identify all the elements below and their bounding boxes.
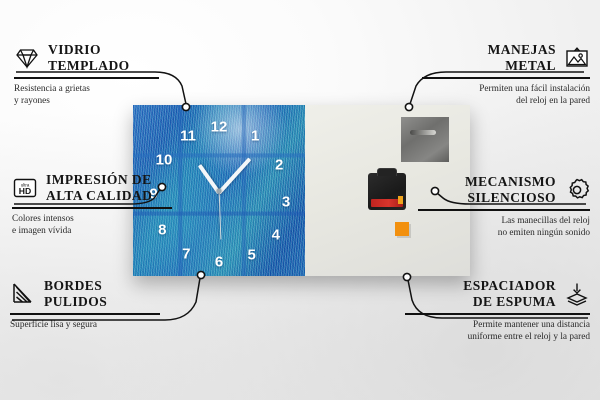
callout-subtitle: Colores intensos e imagen vívida [12,213,172,238]
callout-mecanismo-silencioso: MECANISMO SILENCIOSO Las manecillas del … [418,174,590,239]
clock-center-pin [217,188,222,193]
callout-rule [12,207,172,209]
callout-subtitle: Las manecillas del reloj no emiten ningú… [418,215,590,240]
clock-numeral-12: 12 [211,120,228,135]
callout-title: IMPRESIÓN DE ALTA CALIDAD [46,172,152,203]
clock-mechanism-box [368,173,406,210]
clock-numeral-3: 3 [282,195,290,210]
callout-rule [10,313,160,315]
clock-numeral-10: 10 [156,152,173,167]
foam-spacer-icon [564,281,590,307]
battery [371,199,403,207]
callout-rule [422,77,590,79]
ultra-hd-icon: ultra HD [12,175,38,201]
clock-numeral-4: 4 [272,227,280,242]
callout-impresion-alta-calidad: ultra HD IMPRESIÓN DE ALTA CALIDAD Color… [12,172,172,237]
callout-rule [14,77,159,79]
callout-title: MECANISMO SILENCIOSO [465,174,556,205]
battery-terminal [398,196,403,204]
metal-hanger-plate [401,117,449,162]
gear-icon [564,177,590,203]
callout-manejas-metal: MANEJAS METAL Permiten una fácil instala… [422,42,590,107]
mechanism-hook [377,168,397,176]
polished-edges-icon [10,281,36,307]
callout-bordes-pulidos: BORDES PULIDOS Superficie lisa y segura [10,278,160,331]
diamond-icon [14,45,40,71]
clock-numeral-1: 1 [251,128,259,143]
hanger-slot [410,130,436,135]
callout-rule [405,313,590,315]
callout-subtitle: Resistencia a grietas y rayones [14,83,159,108]
callout-title: VIDRIO TEMPLADO [48,42,130,73]
clock-numeral-6: 6 [215,255,223,270]
callout-rule [418,209,590,211]
wall-hanger-icon [564,45,590,71]
foam-spacer-pad [395,222,409,236]
callout-title: MANEJAS METAL [488,42,556,73]
callout-subtitle: Permite mantener una distancia uniforme … [405,319,590,344]
clock-second-hand [218,191,221,239]
callout-title: ESPACIADOR DE ESPUMA [463,278,556,309]
callout-subtitle: Superficie lisa y segura [10,319,160,331]
callout-vidrio-templado: VIDRIO TEMPLADO Resistencia a grietas y … [14,42,159,107]
clock-numeral-5: 5 [248,248,256,263]
callout-subtitle: Permiten una fácil instalación del reloj… [422,83,590,108]
clock-minute-hand [218,157,252,194]
clock-numeral-7: 7 [182,246,190,261]
svg-text:HD: HD [19,186,31,196]
infographic-canvas: 12 1 2 3 4 5 6 7 8 9 10 11 [0,0,600,400]
clock-numeral-2: 2 [275,157,283,172]
clock-numeral-11: 11 [180,128,196,143]
callout-title: BORDES PULIDOS [44,278,107,309]
callout-espaciador-espuma: ESPACIADOR DE ESPUMA Permite mantener un… [405,278,590,343]
